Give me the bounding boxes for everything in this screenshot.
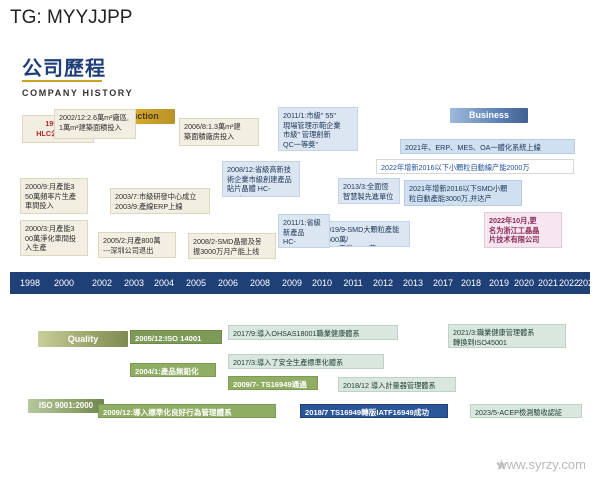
axis-year-2008: 2008 — [244, 274, 276, 292]
axis-year-2003: 2003 — [118, 274, 150, 292]
phase-chip-quality: Quality — [38, 331, 128, 347]
axis-year-2023: 2023 — [573, 274, 600, 292]
box-ts16949: 2009/7- TS16949通過 — [228, 376, 318, 390]
axis-year-2004: 2004 — [148, 274, 180, 292]
title-divider — [22, 80, 102, 82]
axis-year-2012: 2012 — [367, 274, 399, 292]
page-title: 公司歷程 — [22, 52, 106, 81]
box-y2022-capacity: 2022年增新2016以下小顆粒自動線产能2000万 — [376, 159, 574, 174]
watermark-text: www.syrzy.com — [497, 457, 586, 472]
box-y2022-rename: 2022年10月,更 名为浙江工晶晶 片技术有限公司 — [484, 212, 562, 248]
screenshot-root: TG: MYYJJPP 公司歷程 COMPANY HISTORY Product… — [0, 0, 600, 480]
box-y2005-output: 2005/2:月產800萬 ---深圳公司退出 — [98, 232, 176, 258]
box-y2009-smd: 2019/9-SMD大顆粒產能1500萬/ OSC產能1700萬 — [318, 221, 410, 247]
box-iatf16949: 2018/7 TS16949轉版IATF16949成功 — [300, 404, 448, 418]
box-y2013-smart: 2013/3:全面恆 智慧製先進單位 — [338, 178, 400, 204]
axis-year-2011: 2011 — [337, 274, 369, 292]
box-y2003-erp: 2003/7:市級研發中心成立 2003/9:產線ERP上線 — [110, 188, 210, 214]
box-y2011-province: 2011/1:省級新產品 HC-495/SMD 三引腳 — [278, 214, 330, 248]
phase-chip-business: Business — [450, 108, 528, 123]
axis-year-1998: 1998 — [14, 274, 46, 292]
box-y2008-smd: 2008/2-SMD晶振及봉 振3000万月产能上线 — [188, 233, 276, 259]
box-standard-mgmt: 2009/12:導入標準化良好行為管理體系 — [98, 404, 276, 418]
axis-year-2002: 2002 — [86, 274, 118, 292]
phase-chip-iso: ISO 9001:2000 — [28, 399, 104, 413]
axis-year-2010: 2010 — [306, 274, 338, 292]
tg-label: TG: MYYJJPP — [10, 7, 132, 29]
box-y2006-plant: 2006/8:1.3萬m²建 築面積廠房投入 — [179, 118, 259, 146]
box-ce-accept: 2023/5-ACEP檢測驗收認証 — [470, 404, 582, 418]
company-history-card: 公司歷程 COMPANY HISTORY Production Business… — [0, 36, 600, 480]
box-safety-standard: 2017/3:導入了安全生產標準化體系 — [228, 354, 384, 369]
box-y2021-erp-mes: 2021年、ERP、MES、OA一體化系統上線 — [400, 139, 575, 154]
box-ohsas18001: 2017/9:導入OHSAS18001職業健康體系 — [228, 325, 398, 340]
box-y2000-line: 2000/9:月產能3 50萬頻率片生產 車間投入 — [20, 178, 88, 214]
box-y2000-purify: 2000/3:月產能3 00萬淨化車間投 入生產 — [20, 220, 88, 256]
axis-year-2000: 2000 — [48, 274, 80, 292]
box-measure-mgmt: 2018/12 導入計量器管理體系 — [338, 377, 456, 392]
box-y2008-highnew: 2008/12:省級高新技 術企業市級創建產品 貼片晶體 HC-495/SMD — [222, 161, 300, 197]
box-lead-free: 2004/1:產品無鉛化 — [130, 363, 216, 377]
axis-year-2006: 2006 — [212, 274, 244, 292]
top-bar: TG: MYYJJPP — [0, 0, 600, 36]
axis-year-2005: 2005 — [180, 274, 212, 292]
box-y2021-capacity: 2021年增新2016以下SMD小顆 粒自動產能3000万,并达产 — [404, 180, 522, 206]
axis-year-2009: 2009 — [276, 274, 308, 292]
box-iso14001: 2005/12:ISO 14001 — [130, 330, 222, 344]
box-y2011-award: 2011/1:市級" 55" 現場管理示範企業 市級" 管理創新 QC一等獎" — [278, 107, 358, 151]
box-y2002-capacity: 2002/12:2.6萬m²廠區, 1萬m²建築面積投入 — [54, 109, 136, 139]
axis-year-2013: 2013 — [397, 274, 429, 292]
page-subtitle: COMPANY HISTORY — [22, 88, 133, 98]
box-health-mgmt: 2021/3:職業健康管理體系 轉換到ISO45001 — [448, 324, 566, 348]
